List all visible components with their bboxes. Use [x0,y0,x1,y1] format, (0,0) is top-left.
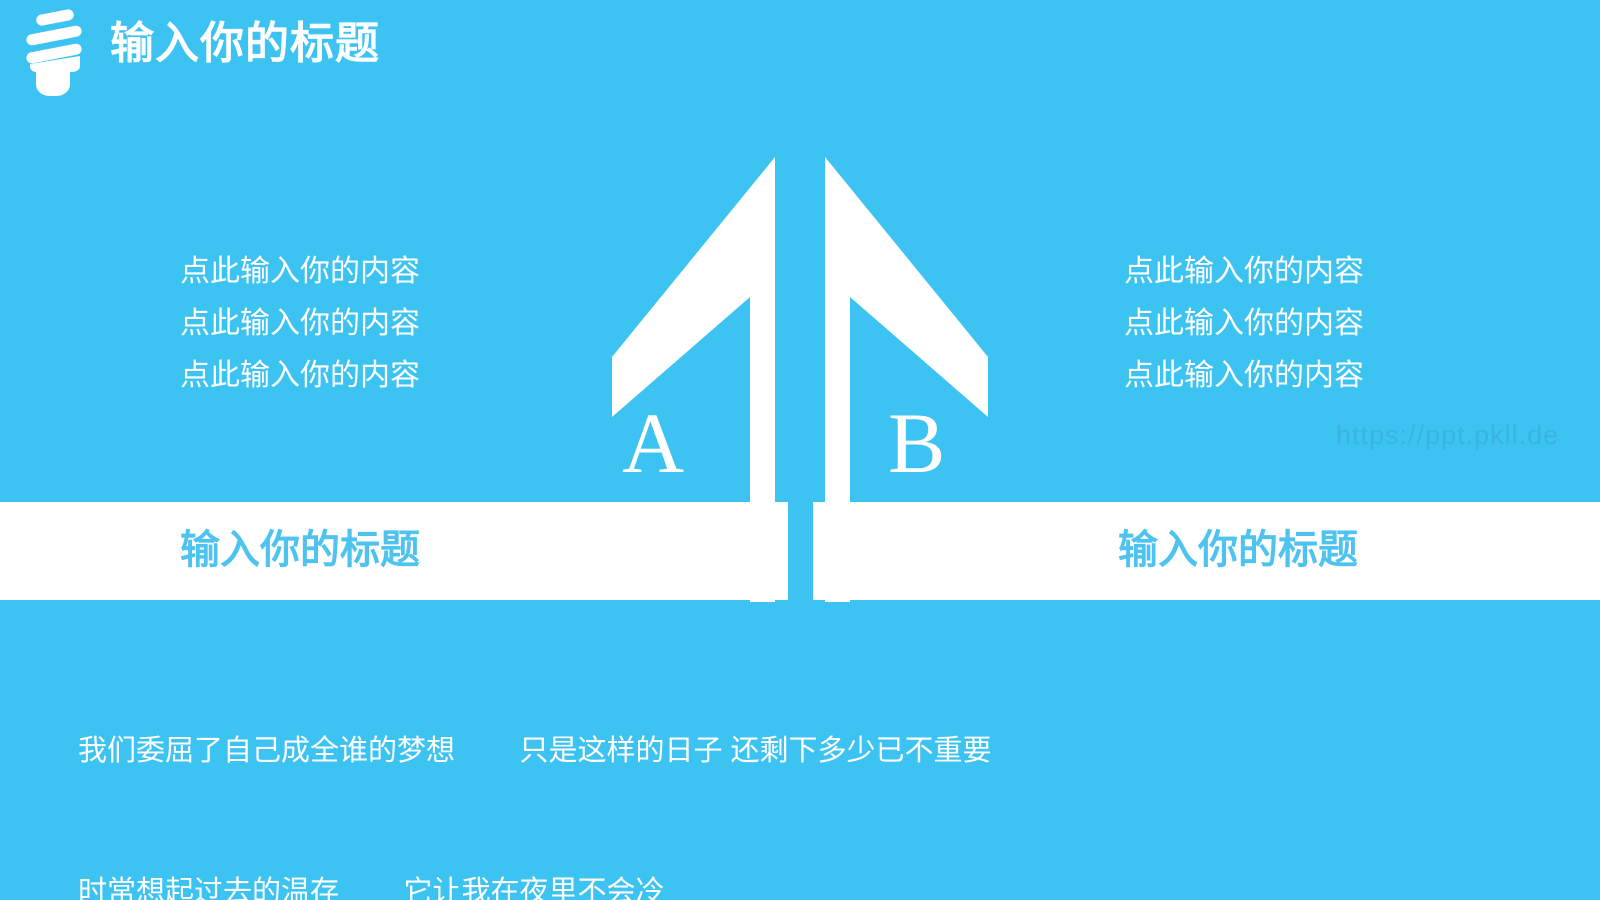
left-bullet-list: 点此输入你的内容 点此输入你的内容 点此输入你的内容 [180,246,420,402]
watermark-url: https://ppt.pkll.de [1336,420,1559,451]
slide-header: 输入你的标题 [0,0,1600,110]
list-item[interactable]: 点此输入你的内容 [1124,298,1364,350]
list-item[interactable]: 点此输入你的内容 [1124,246,1364,298]
left-section-title: 输入你的标题 [180,514,420,586]
spiral-lightbulb-icon [18,8,90,96]
footer-line: 时常想起过去的温存 它让我在夜里不会冷 [78,869,992,900]
arrow-label-a: A [622,400,684,486]
band-divider [788,502,813,600]
slide-canvas: 输入你的标题 A B 点此输入你的内容 点此输入你的内容 点此输入你的内容 点此… [0,0,1600,900]
right-bullet-list: 点此输入你的内容 点此输入你的内容 点此输入你的内容 [1124,246,1364,402]
footer-text-block: 我们委屈了自己成全谁的梦想 只是这样的日子 还剩下多少已不重要 时常想起过去的温… [78,634,992,900]
arrow-label-b: B [888,400,945,486]
list-item[interactable]: 点此输入你的内容 [180,350,420,402]
list-item[interactable]: 点此输入你的内容 [180,246,420,298]
footer-line: 我们委屈了自己成全谁的梦想 只是这样的日子 还剩下多少已不重要 [78,728,992,775]
list-item[interactable]: 点此输入你的内容 [180,298,420,350]
right-section-title: 输入你的标题 [1118,514,1358,586]
list-item[interactable]: 点此输入你的内容 [1124,350,1364,402]
page-title: 输入你的标题 [110,22,380,66]
